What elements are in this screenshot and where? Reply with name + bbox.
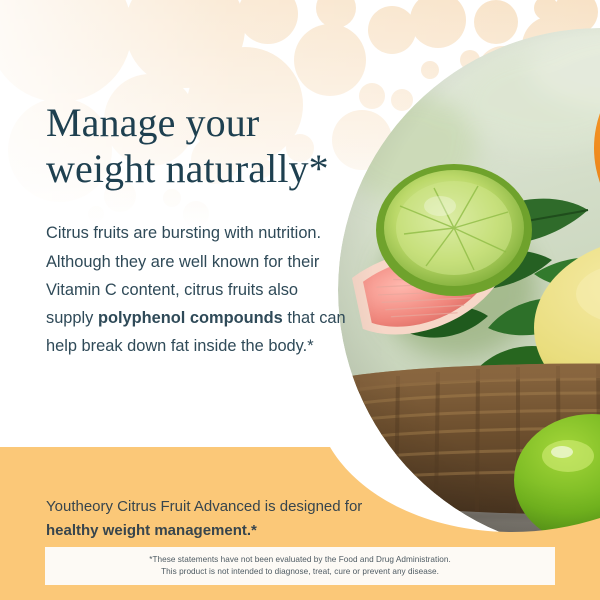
page-title: Manage your weight naturally* xyxy=(46,100,376,191)
body-emphasis: polyphenol compounds xyxy=(98,309,283,327)
band-part-1: Youtheory Citrus Fruit Advanced is desig… xyxy=(46,498,362,515)
disclaimer-line-2: This product is not intended to diagnose… xyxy=(161,566,439,578)
body-paragraph: Citrus fruits are bursting with nutritio… xyxy=(46,219,346,360)
band-emphasis: healthy weight management.* xyxy=(46,522,257,539)
disclaimer-box: *These statements have not been evaluate… xyxy=(45,547,555,585)
disclaimer-line-1: *These statements have not been evaluate… xyxy=(149,554,451,566)
band-paragraph: Youtheory Citrus Fruit Advanced is desig… xyxy=(46,495,416,544)
promotional-graphic: Manage your weight naturally* Citrus fru… xyxy=(0,0,600,600)
